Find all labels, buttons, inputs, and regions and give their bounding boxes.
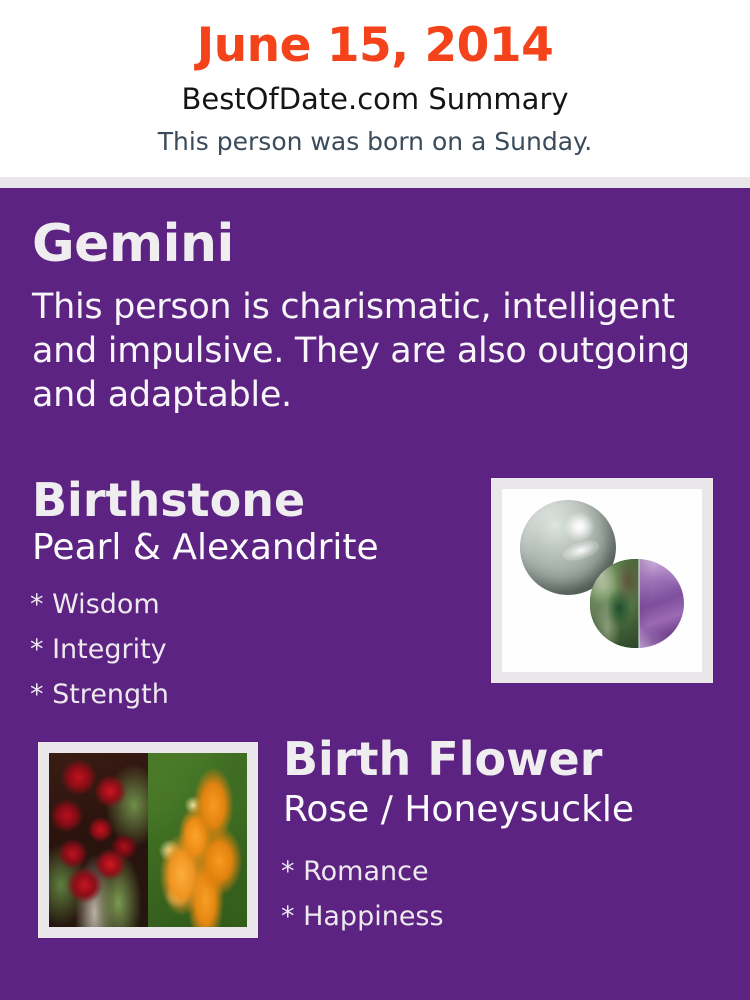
date-summary-card: June 15, 2014 BestOfDate.com Summary Thi… (0, 0, 750, 1000)
birth-flower-traits-list: * Romance * Happiness (281, 849, 444, 939)
birth-flower-photo (49, 753, 247, 927)
zodiac-sign-heading: Gemini (32, 218, 234, 270)
header-divider (0, 177, 750, 188)
list-item: * Strength (30, 672, 169, 717)
list-item: * Integrity (30, 627, 169, 672)
birthstone-photo (502, 489, 702, 672)
birth-flower-photo-frame (38, 742, 258, 938)
birthstone-traits-list: * Wisdom * Integrity * Strength (30, 582, 169, 717)
list-item: * Wisdom (30, 582, 169, 627)
born-weekday-text: This person was born on a Sunday. (0, 129, 750, 154)
red-roses-image-half (49, 753, 148, 927)
birthstone-heading: Birthstone (32, 477, 305, 523)
header: June 15, 2014 BestOfDate.com Summary Thi… (0, 0, 750, 177)
birthstone-photo-frame (491, 478, 713, 683)
site-summary-subtitle: BestOfDate.com Summary (0, 85, 750, 114)
alexandrite-seam (638, 559, 640, 649)
birthstone-value: Pearl & Alexandrite (32, 530, 379, 566)
birth-flower-heading: Birth Flower (283, 736, 602, 782)
honeysuckle-image-half (148, 753, 247, 927)
alexandrite-gem-icon (590, 559, 684, 649)
alexandrite-rough-half (590, 559, 639, 649)
zodiac-description: This person is charismatic, intelligent … (32, 285, 712, 417)
birth-flower-value: Rose / Honeysuckle (283, 792, 634, 828)
page-title-date: June 15, 2014 (0, 22, 750, 69)
content-panel: Gemini This person is charismatic, intel… (0, 188, 750, 1000)
alexandrite-faceted-half (639, 559, 684, 649)
list-item: * Happiness (281, 894, 444, 939)
list-item: * Romance (281, 849, 444, 894)
